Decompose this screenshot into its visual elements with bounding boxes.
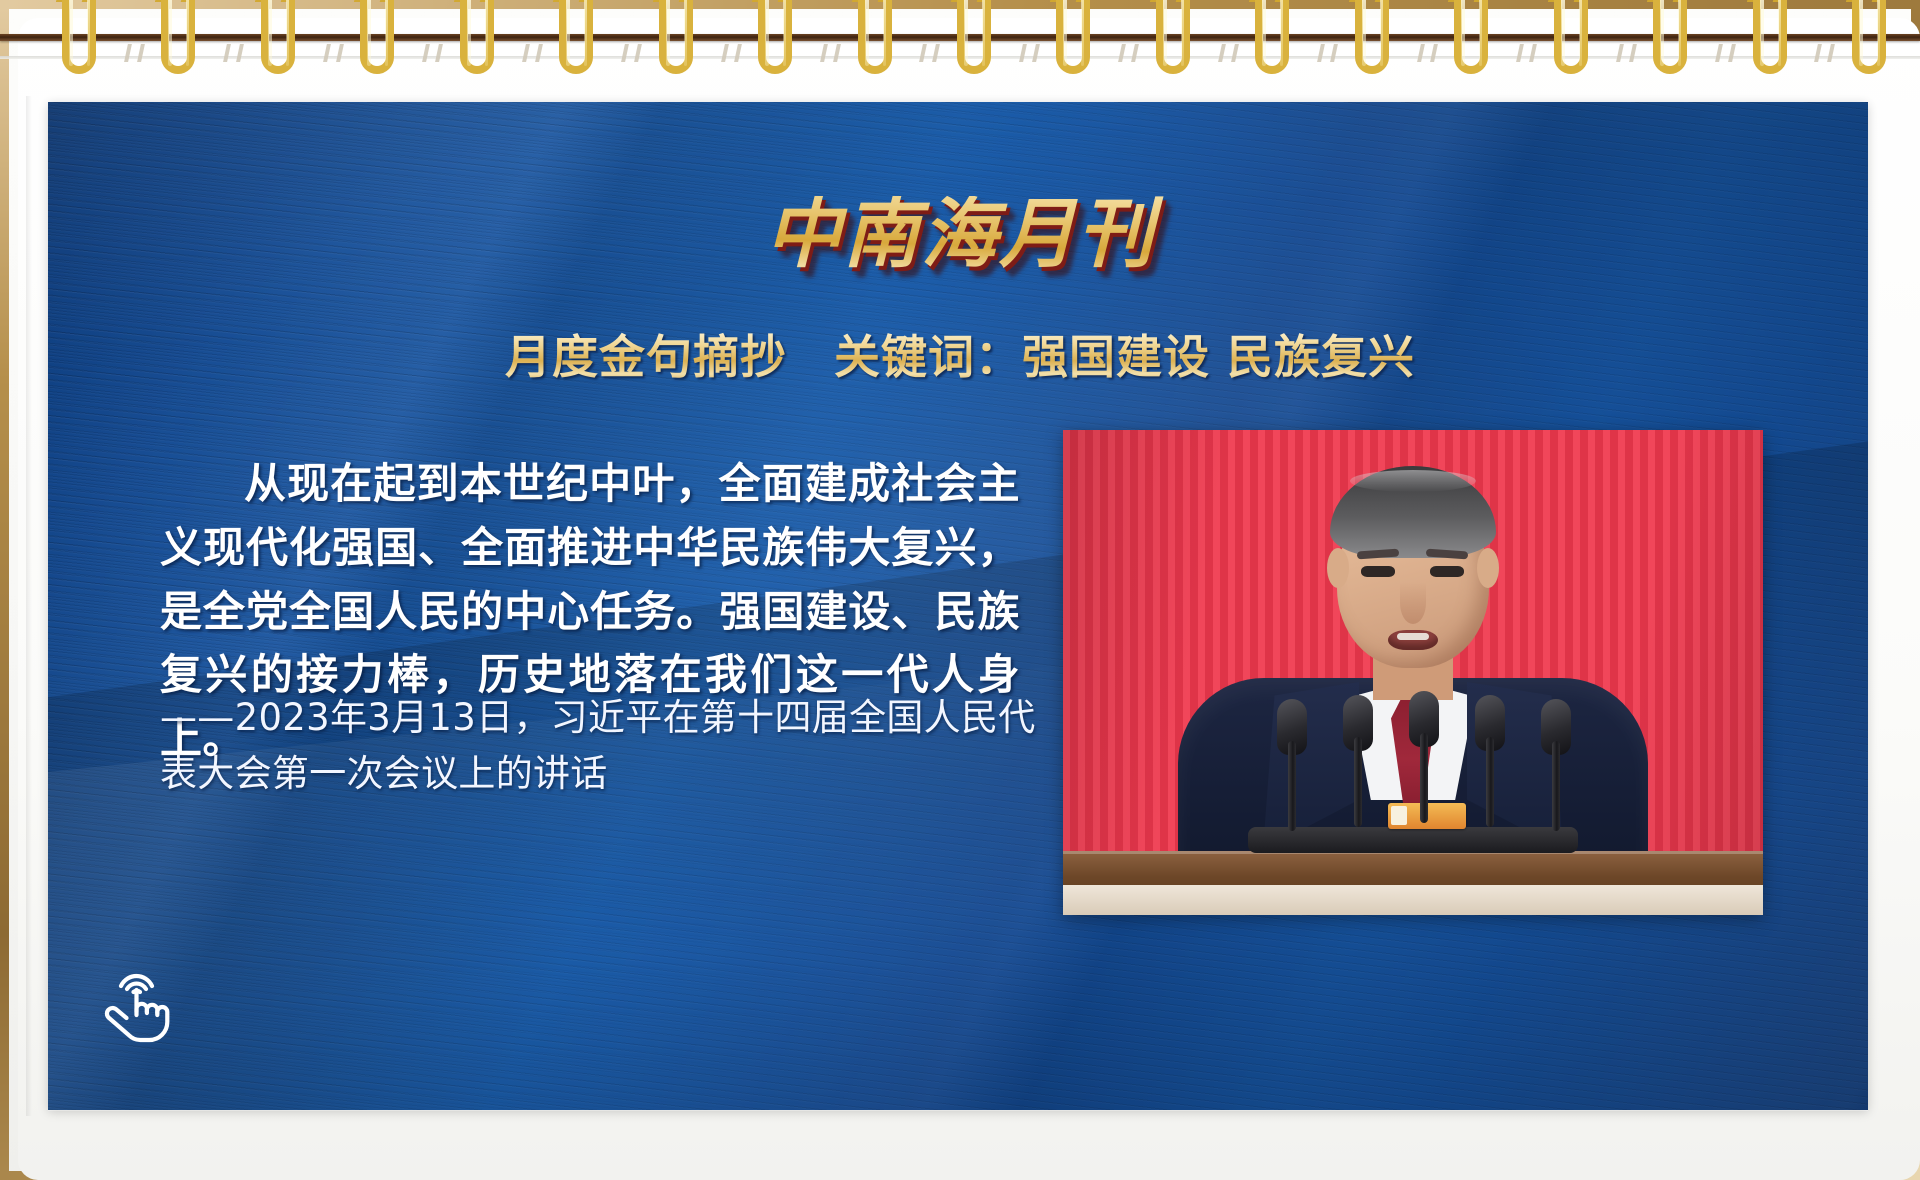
figure-mouth	[1388, 630, 1438, 650]
podium	[1063, 851, 1763, 915]
microphone-stem	[1288, 741, 1296, 831]
microphone-stem	[1486, 737, 1494, 827]
quote-attribution: ——2023年3月13日，习近平在第十四届全国人民代表大会第一次会议上的讲话	[160, 690, 1040, 802]
masthead-title: 中南海月刊	[0, 196, 1920, 272]
microphone	[1541, 703, 1571, 831]
figure-hair	[1330, 466, 1496, 558]
microphone	[1409, 695, 1439, 823]
microphone	[1343, 699, 1373, 827]
figure-eye-right	[1430, 566, 1464, 577]
figure-ear-left	[1327, 548, 1349, 588]
figure-ear-right	[1477, 548, 1499, 588]
microphone-stem	[1354, 737, 1362, 827]
microphone-stem	[1552, 741, 1560, 831]
speaker-photo	[1063, 430, 1763, 915]
figure-eye-left	[1361, 566, 1395, 577]
microphone-stem	[1420, 733, 1428, 823]
figure-nose	[1400, 582, 1426, 624]
touch-tap-icon[interactable]	[100, 958, 174, 1046]
microphone	[1475, 699, 1505, 827]
podium-front-panel	[1063, 885, 1763, 915]
microphone	[1277, 703, 1307, 831]
subtitle-keywords: 月度金句摘抄 关键词：强国建设 民族复兴	[0, 330, 1920, 385]
